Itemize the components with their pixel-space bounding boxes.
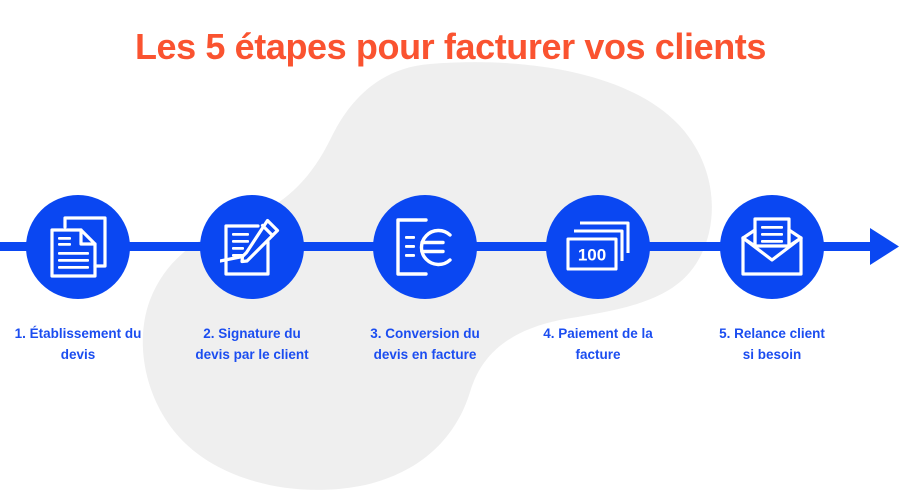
step-label-4: 4. Paiement de la facture: [511, 324, 685, 366]
documents-icon: [47, 214, 109, 280]
step-item-5[interactable]: 5. Relance client si besoin: [685, 195, 859, 366]
invoice-euro-icon: [393, 216, 457, 278]
infographic-canvas: Les 5 étapes pour facturer vos clients: [0, 0, 901, 490]
page-title: Les 5 étapes pour facturer vos clients: [0, 26, 901, 68]
step-item-1[interactable]: 1. Établissement du devis: [0, 195, 165, 366]
step-label-5: 5. Relance client si besoin: [685, 324, 859, 366]
step-icon-circle-5[interactable]: [720, 195, 824, 299]
steps-row: 1. Établissement du devis: [0, 0, 901, 490]
step-label-1: 1. Établissement du devis: [0, 324, 165, 366]
banknotes-100-icon: 100: [564, 219, 632, 275]
step-icon-circle-3[interactable]: [373, 195, 477, 299]
step-label-2: 2. Signature du devis par le client: [165, 324, 339, 366]
step-label-3: 3. Conversion du devis en facture: [338, 324, 512, 366]
step-icon-circle-1[interactable]: [26, 195, 130, 299]
open-envelope-icon: [739, 216, 805, 278]
step-item-4[interactable]: 100 4. Paiement de la facture: [511, 195, 685, 366]
step-icon-circle-2[interactable]: [200, 195, 304, 299]
step-item-3[interactable]: 3. Conversion du devis en facture: [338, 195, 512, 366]
banknote-value-text: 100: [578, 246, 606, 265]
step-item-2[interactable]: 2. Signature du devis par le client: [165, 195, 339, 366]
step-icon-circle-4[interactable]: 100: [546, 195, 650, 299]
document-pencil-icon: [220, 214, 284, 280]
